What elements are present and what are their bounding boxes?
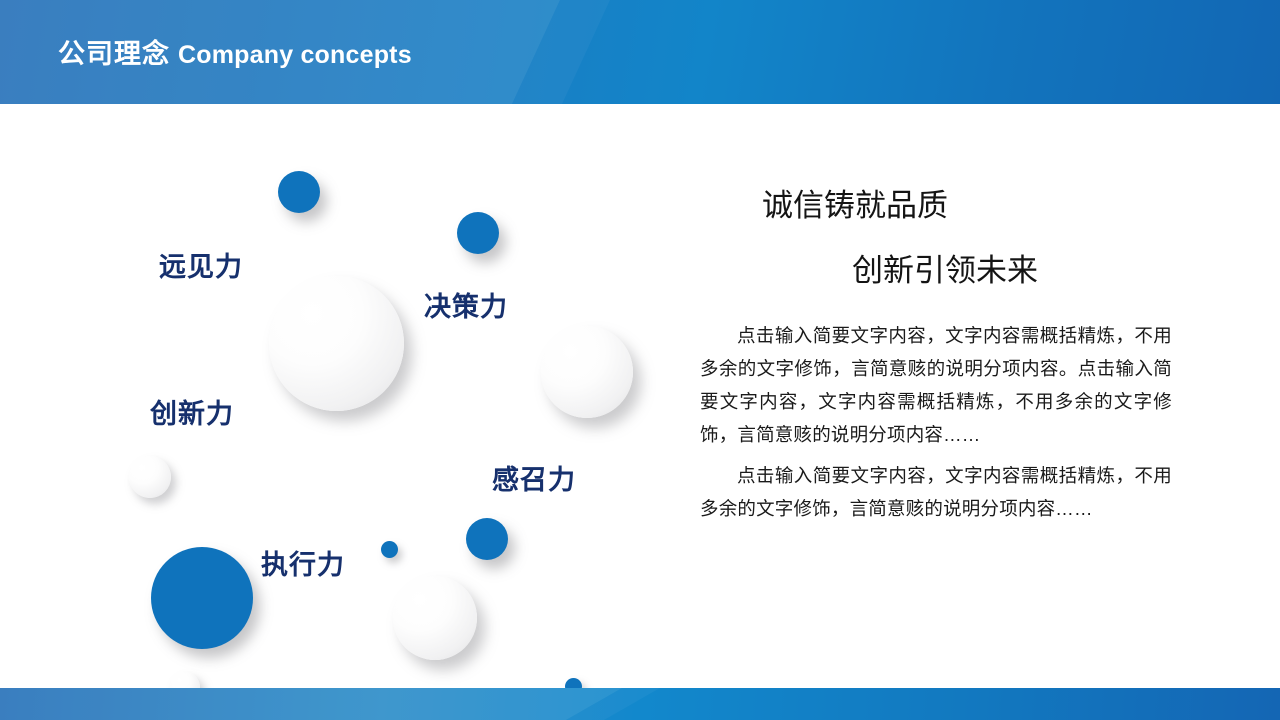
bubble-white-large[interactable] [269,276,404,411]
content-panel: 诚信铸就品质 创新引领未来 点击输入简要文字内容，文字内容需概括精炼，不用多余的… [700,190,1172,534]
headline-line-2: 创新引领未来 [852,255,1172,286]
bubble-blue-dot-center[interactable] [381,541,398,558]
bubble-diagram: 远见力 决策力 创新力 感召力 执行力 [0,104,680,688]
diagram-label-juecheli: 决策力 [424,294,508,321]
header-title-cn: 公司理念 [58,39,170,69]
diagram-label-yuanjianli: 远见力 [159,254,243,281]
footer-diagonal-band-icon [0,688,1280,720]
bubble-blue-large[interactable] [151,547,253,649]
headline-line-1: 诚信铸就品质 [762,190,1172,221]
body-paragraph-2: 点击输入简要文字内容，文字内容需概括精炼，不用多余的文字修饰，言简意赅的说明分项… [700,460,1172,526]
diagram-label-ganzhaoli: 感召力 [492,467,576,494]
slide: 公司理念Company concepts 远见力 决策力 创新力 感召力 [0,0,1280,720]
bubble-white-medium-bottom[interactable] [393,576,477,660]
bubble-white-medium-right[interactable] [541,326,633,418]
bubble-blue-mid[interactable] [466,518,508,560]
bubble-white-small-left[interactable] [129,456,171,498]
slide-footer [0,688,1280,720]
diagram-label-chuangxinli: 创新力 [150,401,234,428]
diagram-label-zhixingli: 执行力 [261,552,345,579]
bubble-blue-upper-right[interactable] [457,212,499,254]
header-title-group: 公司理念Company concepts [58,41,412,68]
body-paragraph-1: 点击输入简要文字内容，文字内容需概括精炼，不用多余的文字修饰，言简意赅的说明分项… [700,320,1172,452]
header-title-en: Company concepts [178,41,412,69]
slide-header: 公司理念Company concepts [0,0,1280,104]
bubble-blue-top[interactable] [278,171,320,213]
